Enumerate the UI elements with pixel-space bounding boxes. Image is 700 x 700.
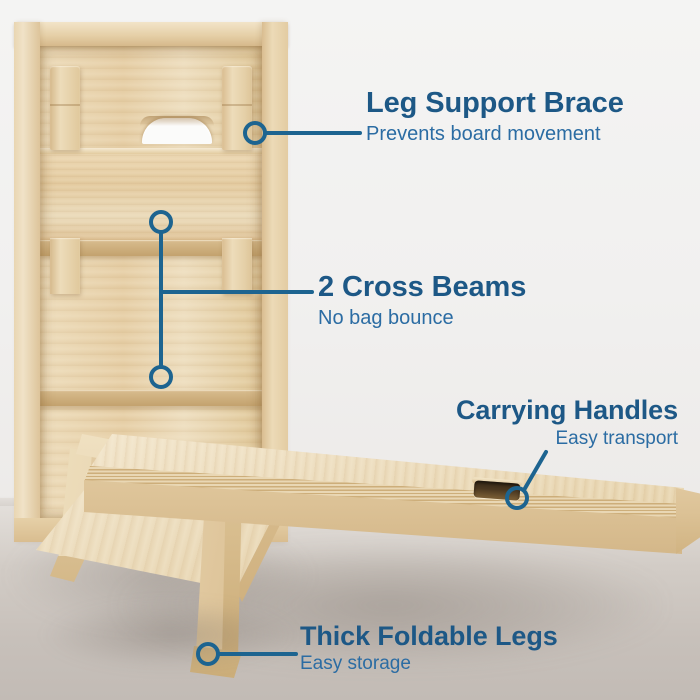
callout-title: Leg Support Brace <box>366 88 686 118</box>
callout-leg-support-brace: Leg Support Brace Prevents board movemen… <box>366 88 686 146</box>
callout-title: 2 Cross Beams <box>318 272 618 302</box>
callout-subtitle: Easy transport <box>360 428 678 449</box>
leg-support-brace <box>40 148 262 240</box>
callout-subtitle: Prevents board movement <box>366 123 686 145</box>
folded-leg-block-top-right <box>222 66 252 150</box>
callout-thick-foldable-legs: Thick Foldable Legs Easy storage <box>300 622 660 674</box>
frame-rail-top <box>14 22 288 46</box>
callout-cross-beams: 2 Cross Beams No bag bounce <box>318 272 618 330</box>
infographic-stage: Leg Support Brace Prevents board movemen… <box>0 0 700 700</box>
folded-leg-block-top-left <box>50 66 80 150</box>
callout-subtitle: No bag bounce <box>318 307 618 329</box>
callout-title: Carrying Handles <box>360 396 678 424</box>
callout-title: Thick Foldable Legs <box>300 622 660 650</box>
handle-slot <box>473 480 520 500</box>
handle-cutout-lip <box>140 116 214 126</box>
callout-carrying-handles: Carrying Handles Easy transport <box>360 396 678 449</box>
folded-leg-block-bottom-right <box>222 238 252 294</box>
folded-leg-block-bottom-left <box>50 238 80 294</box>
shadow-legs <box>40 600 300 670</box>
callout-subtitle: Easy storage <box>300 653 660 674</box>
